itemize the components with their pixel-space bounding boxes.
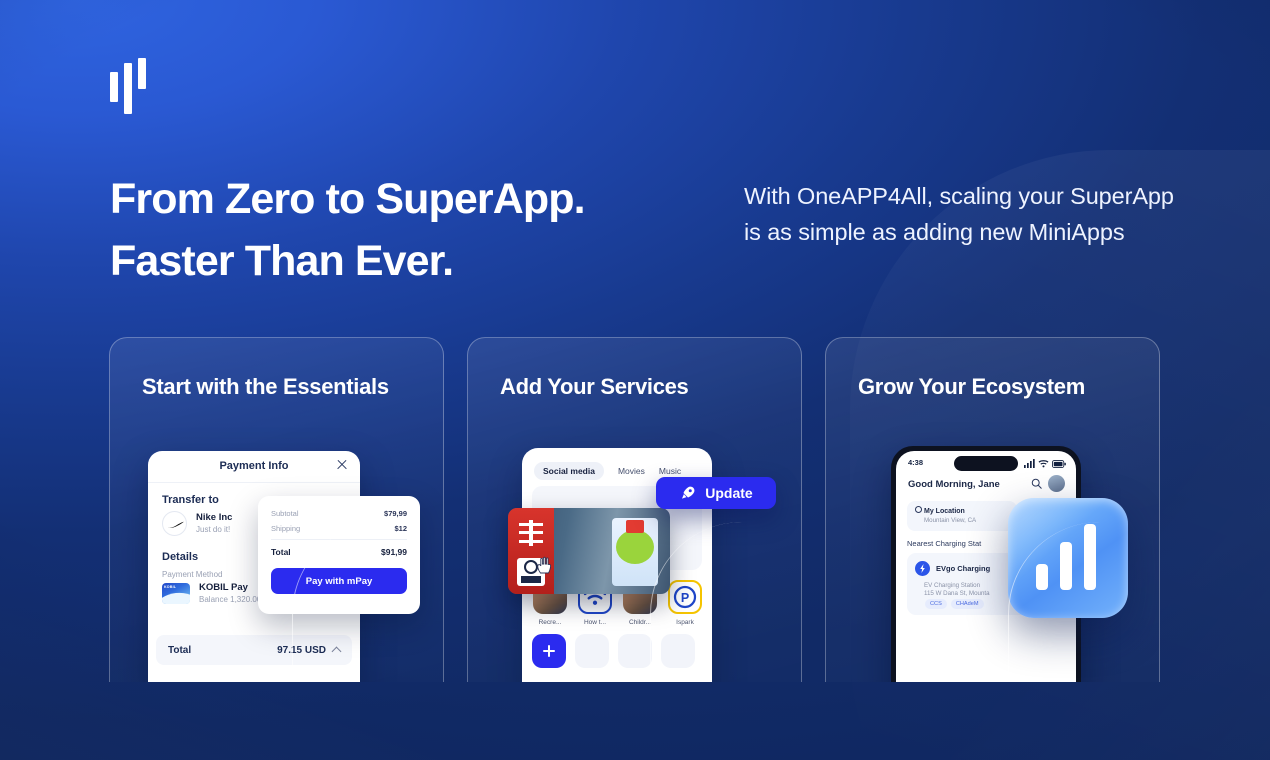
miniapp-label: Recre... — [532, 619, 568, 626]
total-label: Total — [168, 645, 191, 656]
rocket-icon — [679, 484, 697, 502]
kobil-logo[interactable] — [110, 58, 150, 114]
miniapp-label: Ispark — [667, 619, 703, 626]
miniapp-slot-empty[interactable] — [575, 634, 609, 668]
summary-row-total: Total $91,99 — [271, 547, 407, 557]
payment-method-label: Payment Method — [162, 569, 222, 580]
card-title: Add Your Services — [500, 374, 689, 400]
miniapp-label: Childr... — [622, 619, 658, 626]
logo-bar-3 — [138, 58, 146, 89]
search-icon[interactable] — [1031, 478, 1042, 489]
subtotal-value: $79,99 — [384, 509, 407, 518]
street-ad-image — [508, 508, 670, 594]
plus-icon[interactable] — [532, 634, 566, 668]
tab-movies[interactable]: Movies — [618, 466, 645, 476]
shipping-value: $12 — [394, 524, 407, 533]
summary-row-shipping: Shipping $12 — [271, 524, 407, 533]
signage-blob — [616, 530, 654, 564]
connector-tags: CCS CHAdeM — [925, 599, 984, 609]
merchant-tagline: Just do it! — [196, 524, 232, 535]
category-tabs[interactable]: Social media Movies Music — [534, 462, 681, 480]
summary-total-label: Total — [271, 547, 291, 557]
chevron-up-icon[interactable] — [332, 647, 342, 657]
payment-sheet-header: Payment Info — [148, 451, 360, 483]
location-title: My Location — [915, 506, 1009, 515]
total-bar[interactable]: Total 97.15 USD — [156, 635, 352, 665]
card-title: Start with the Essentials — [142, 374, 389, 400]
page-title: From Zero to SuperApp. Faster Than Ever. — [110, 168, 730, 292]
tab-social-media[interactable]: Social media — [534, 462, 604, 480]
miniapp-grid-row-2 — [532, 634, 704, 668]
tag-chademo: CHAdeM — [951, 599, 984, 609]
ecosystem-mockup: 4:38 — [866, 446, 1128, 682]
digital-signage-panel — [612, 518, 658, 586]
hand-cursor-icon — [536, 556, 552, 574]
headline-line-2: Faster Than Ever. — [110, 237, 453, 285]
chart-bar-1 — [1036, 564, 1048, 590]
svg-text:P: P — [681, 591, 689, 605]
miniapp-label: How t... — [577, 619, 613, 626]
payment-mockup: Payment Info Transfer to Nike Inc Just d… — [148, 451, 420, 682]
page-subtitle: With OneAPP4All, scaling your SuperApp i… — [744, 178, 1184, 250]
bar-chart-icon — [1008, 498, 1128, 618]
subtotal-label: Subtotal — [271, 509, 299, 518]
greeting-text: Good Morning, Jane — [908, 479, 1000, 490]
status-icons — [1024, 459, 1066, 468]
signal-icon — [1024, 459, 1035, 468]
location-subtitle: Mountain View, CA — [924, 517, 1009, 524]
feature-card-ecosystem[interactable]: Grow Your Ecosystem 4:38 — [825, 337, 1160, 682]
card-title: Grow Your Ecosystem — [858, 374, 1085, 400]
summary-total-value: $91,99 — [381, 547, 407, 557]
details-label: Details — [162, 551, 198, 563]
nearest-charging-label: Nearest Charging Stat — [907, 539, 981, 548]
signage-logo — [626, 520, 644, 533]
shipping-label: Shipping — [271, 524, 300, 533]
merchant-name: Nike Inc — [196, 512, 232, 524]
total-value: 97.15 USD — [277, 645, 326, 656]
headline-line-1: From Zero to SuperApp. — [110, 175, 585, 223]
tab-music[interactable]: Music — [659, 466, 681, 476]
update-button-label: Update — [705, 485, 752, 501]
close-icon[interactable] — [336, 459, 348, 471]
battery-icon — [1052, 460, 1066, 468]
services-mockup: Social media Movies Music Recre... — [508, 448, 766, 682]
swoosh-icon — [167, 521, 184, 529]
status-time: 4:38 — [908, 458, 923, 467]
total-ghost-row — [156, 669, 352, 682]
feature-card-services[interactable]: Add Your Services Social media Movies Mu… — [467, 337, 802, 682]
kobil-card-brand: KOBIL — [164, 585, 176, 589]
nike-logo-icon — [162, 511, 187, 536]
kobil-card-icon: KOBIL — [162, 583, 190, 604]
pay-with-mpay-button[interactable]: Pay with mPay — [271, 568, 407, 594]
wifi-icon — [1038, 459, 1049, 468]
summary-row-subtotal: Subtotal $79,99 — [271, 509, 407, 518]
station-name: EVgo Charging — [936, 564, 990, 573]
payment-sheet-title: Payment Info — [148, 460, 360, 472]
parking-icon: P — [668, 580, 702, 614]
my-location-card[interactable]: My Location Mountain View, CA — [907, 501, 1017, 531]
chart-bar-2 — [1060, 542, 1072, 590]
miniapp-slot-empty[interactable] — [618, 634, 652, 668]
ad-red-banner — [508, 508, 554, 594]
merchant-row: Nike Inc Just do it! — [162, 511, 232, 536]
logo-bar-1 — [110, 72, 118, 102]
pin-icon — [915, 506, 922, 513]
chart-bar-3 — [1084, 524, 1096, 590]
avatar[interactable] — [1048, 475, 1065, 492]
summary-divider — [271, 539, 407, 540]
status-bar: 4:38 — [896, 458, 1076, 470]
feature-card-essentials[interactable]: Start with the Essentials Payment Info T… — [109, 337, 444, 682]
miniapp-slot-empty[interactable] — [661, 634, 695, 668]
tag-ccs: CCS — [925, 599, 947, 609]
cjk-glyph-icon — [516, 518, 546, 548]
logo-bar-2 — [124, 63, 132, 114]
ev-plug-icon — [915, 561, 930, 576]
miniapp-ispark[interactable]: P Ispark — [667, 580, 703, 626]
order-summary-card: Subtotal $79,99 Shipping $12 Total $91,9… — [258, 496, 420, 614]
transfer-to-label: Transfer to — [162, 494, 219, 506]
update-button[interactable]: Update — [656, 477, 776, 509]
